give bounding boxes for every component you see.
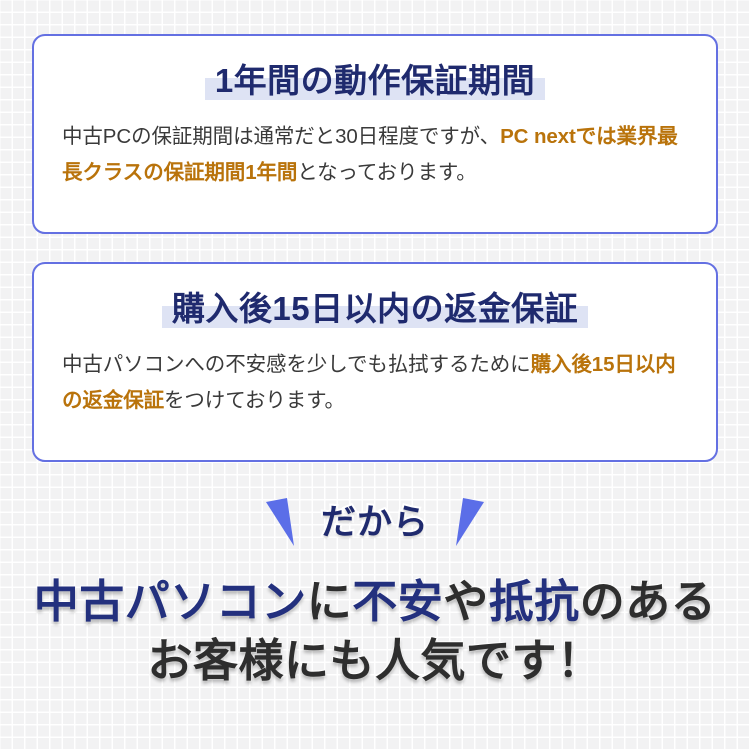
headline-segment: や bbox=[443, 576, 489, 627]
card-title-container: 購入後15日以内の返金保証 bbox=[34, 292, 716, 327]
left-slash-icon bbox=[265, 496, 299, 548]
headline-segment: のある bbox=[580, 576, 717, 627]
card-body-segment: となっております。 bbox=[297, 161, 476, 184]
connector-label: だから bbox=[321, 505, 429, 540]
headline-segment: お客様にも人気です！ bbox=[147, 635, 602, 686]
headline-segment: 不安 bbox=[352, 576, 443, 627]
card-title-container: 1年間の動作保証期間 bbox=[34, 64, 716, 99]
card-title: 1年間の動作保証期間 bbox=[205, 64, 545, 99]
headline-segment: に bbox=[307, 576, 353, 627]
right-slash-icon bbox=[451, 496, 485, 548]
card-body-segment: 中古PCの保証期間は通常だと30日程度ですが、 bbox=[62, 125, 500, 148]
headline-segment: 中古パソコン bbox=[34, 576, 307, 627]
headline-line-2: お客様にも人気です！ bbox=[0, 631, 750, 690]
card-body-segment: をつけております。 bbox=[164, 389, 345, 412]
card-body-segment: 中古パソコンへの不安感を少しでも払拭するために bbox=[62, 353, 531, 376]
guarantee-card-warranty: 1年間の動作保証期間 中古PCの保証期間は通常だと30日程度ですが、PC nex… bbox=[32, 34, 718, 234]
card-body: 中古PCの保証期間は通常だと30日程度ですが、PC nextでは業界最長クラスの… bbox=[62, 119, 688, 192]
card-body: 中古パソコンへの不安感を少しでも払拭するために購入後15日以内の返金保証をつけて… bbox=[62, 347, 688, 420]
connector-row: だから bbox=[0, 492, 750, 552]
closing-headline: 中古パソコンに不安や抵抗のある お客様にも人気です！ bbox=[0, 572, 750, 691]
headline-segment: 抵抗 bbox=[489, 576, 580, 627]
promo-graphic: 1年間の動作保証期間 中古PCの保証期間は通常だと30日程度ですが、PC nex… bbox=[0, 0, 750, 750]
card-title: 購入後15日以内の返金保証 bbox=[162, 292, 588, 327]
guarantee-card-refund: 購入後15日以内の返金保証 中古パソコンへの不安感を少しでも払拭するために購入後… bbox=[32, 262, 718, 462]
headline-line-1: 中古パソコンに不安や抵抗のある bbox=[0, 572, 750, 631]
card-body-highlight: PC next bbox=[500, 125, 576, 148]
